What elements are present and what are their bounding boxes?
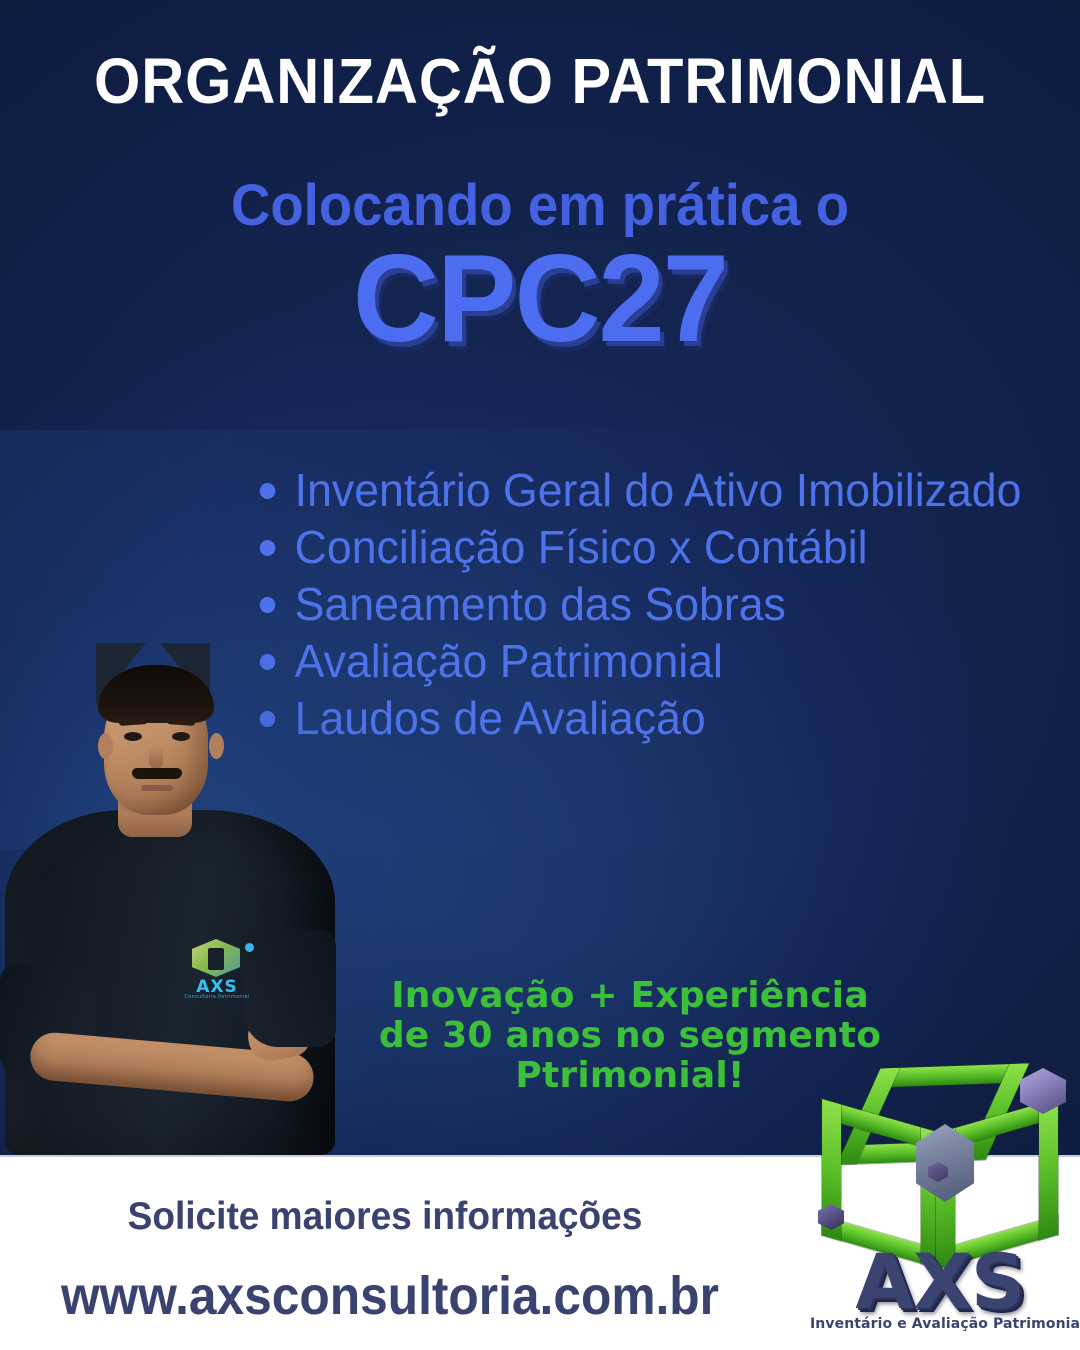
mustache <box>132 768 182 779</box>
consultant-photo: AXS Consultoria Patrimonial <box>0 635 345 1155</box>
shirt-logo: AXS Consultoria Patrimonial <box>178 939 256 1003</box>
poster-canvas: ORGANIZAÇÃO PATRIMONIAL Colocando em prá… <box>0 0 1080 1350</box>
page-title: ORGANIZAÇÃO PATRIMONIAL <box>38 44 1042 118</box>
axs-logo-mark <box>816 1064 1066 1252</box>
website-link[interactable]: www.axsconsultoria.com.br <box>59 1265 721 1327</box>
shirt-logo-dot-icon <box>245 943 254 952</box>
mouth <box>141 785 173 791</box>
pitch-line-2: de 30 anos no segmento <box>330 1016 930 1056</box>
ear-right <box>209 733 224 759</box>
shirt-logo-tagline: Consultoria Patrimonial <box>184 994 250 1000</box>
nose <box>149 747 163 769</box>
ear-left <box>98 733 113 759</box>
eye-right <box>172 732 190 741</box>
eye-left <box>124 732 142 741</box>
axs-tagline: Inventário e Avaliação Patrimonial <box>810 1316 1068 1332</box>
axs-logo: AXS Inventário e Avaliação Patrimonial <box>802 1058 1074 1348</box>
contact-cta: Solicite maiores informações <box>57 1195 713 1239</box>
pitch-line-1: Inovação + Experiência <box>330 976 930 1016</box>
axs-wordmark: AXS <box>814 1244 1066 1320</box>
list-item: Inventário Geral do Ativo Imobilizado <box>252 462 1021 519</box>
standard-label: CPC27 <box>22 228 1059 370</box>
list-item: Conciliação Físico x Contábil <box>252 519 1021 576</box>
sleeve-right <box>244 929 336 1047</box>
shirt-logo-cube-icon <box>192 939 240 977</box>
